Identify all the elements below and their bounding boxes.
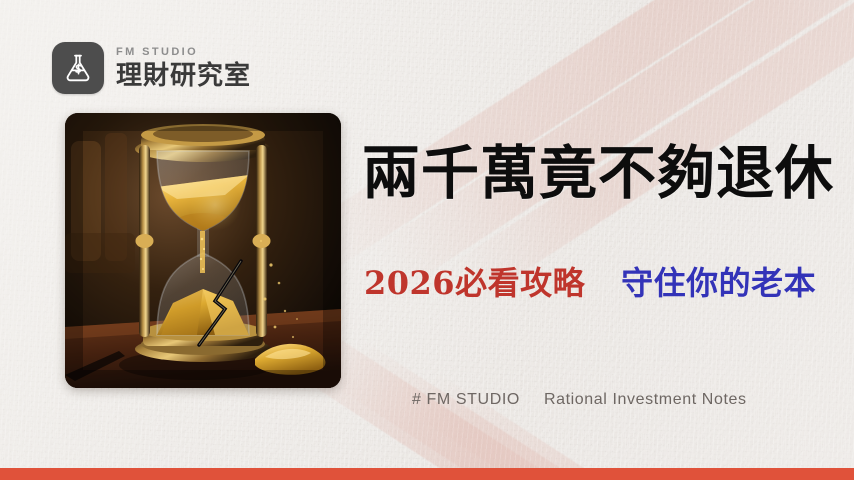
- thumbnail-canvas: FM STUDIO 理財研究室: [0, 0, 854, 480]
- tagline-note: Rational Investment Notes: [544, 391, 747, 409]
- footer-tagline: # FM STUDIO Rational Investment Notes: [412, 391, 747, 409]
- headline-title: 兩千萬竟不夠退休: [362, 144, 834, 202]
- bottom-accent-bar: [0, 468, 854, 480]
- brand-logo: FM STUDIO 理財研究室: [52, 42, 251, 94]
- flask-dollar-icon: [52, 42, 104, 94]
- hourglass-photo: [65, 113, 341, 388]
- brand-cn-name: 理財研究室: [116, 63, 251, 89]
- brand-en-name: FM STUDIO: [116, 47, 251, 58]
- subtitle-left: 2026必看攻略: [364, 258, 585, 304]
- brand-text-block: FM STUDIO 理財研究室: [116, 47, 251, 89]
- tagline-hashtag: # FM STUDIO: [412, 391, 520, 409]
- subtitle-right: 守住你的老本: [621, 258, 816, 304]
- subtitle-row: 2026必看攻略 守住你的老本: [364, 258, 816, 304]
